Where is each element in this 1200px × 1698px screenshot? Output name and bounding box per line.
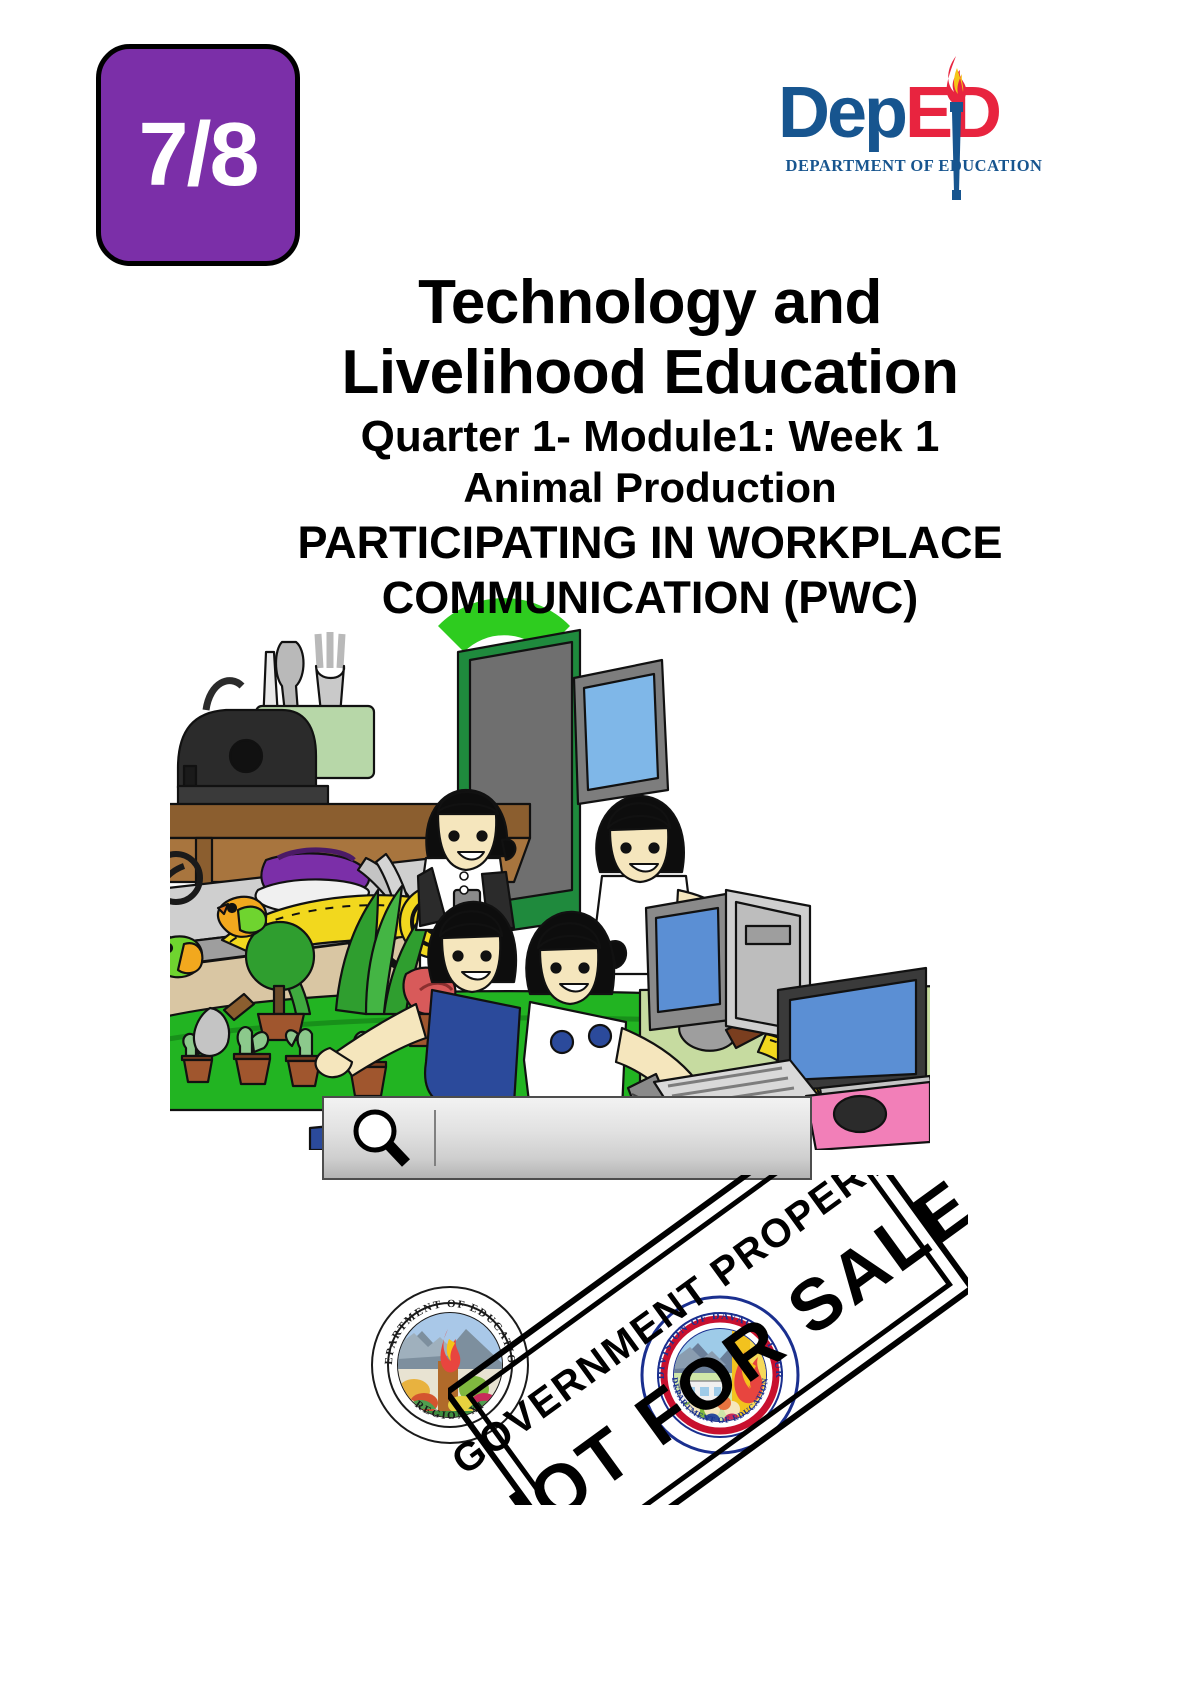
competency-title-line-1: PARTICIPATING IN WORKPLACE [150,514,1150,571]
quarter-module-week-label: Quarter 1- Module1: Week 1 [150,412,1150,462]
deped-dep-text: Dep [778,73,905,153]
search-icon [350,1107,412,1169]
page-title-line-2: Livelihood Education [150,338,1150,408]
torch-icon [930,52,982,202]
tle-collage-illustration [170,590,930,1150]
module-cover-page: 7/8 DepED DEPARTMENT OF EDUCATION Techno… [0,0,1200,1698]
grade-level-badge: 7/8 [96,44,300,266]
deped-tagline: DEPARTMENT OF EDUCATION [780,156,1048,176]
grade-level-label: 7/8 [138,110,257,200]
division-seal-artwork: DIVISION OF DAVAO DEL SUR DEPARTMENT OF … [640,1295,800,1455]
search-caret-divider [434,1110,436,1166]
collage-artwork [170,590,930,1150]
subject-area-label: Animal Production [150,462,1150,514]
deped-logo: DepED DEPARTMENT OF EDUCATION [778,52,1048,192]
seal-division-davao-del-sur: DIVISION OF DAVAO DEL SUR DEPARTMENT OF … [640,1295,800,1455]
seal-deped-region-xi: DEPARTMENT OF EDUCATION REGION XI [370,1285,530,1445]
competency-title-line-2: COMMUNICATION (PWC) [150,569,1150,626]
deped-region-seal-artwork: DEPARTMENT OF EDUCATION REGION XI [370,1285,530,1445]
title-block: Technology and Livelihood Education Quar… [150,268,1150,626]
page-title-line-1: Technology and [150,268,1150,338]
deped-wordmark: DepED [778,72,1048,154]
search-bar[interactable] [322,1096,812,1180]
